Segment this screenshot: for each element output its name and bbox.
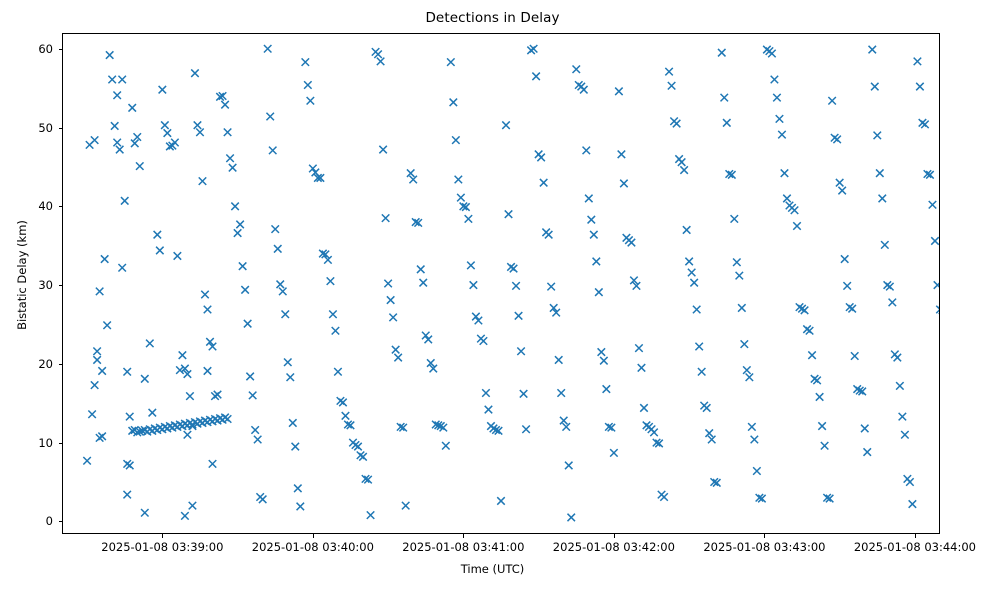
x-tick-mark	[614, 534, 615, 538]
x-tick-label: 2025-01-08 03:42:00	[553, 540, 675, 554]
x-tick-label: 2025-01-08 03:39:00	[101, 540, 223, 554]
x-tick-mark	[764, 534, 765, 538]
y-tick-mark	[59, 128, 63, 129]
x-tick-mark	[915, 534, 916, 538]
y-tick-label: 50	[13, 121, 53, 135]
y-tick-label: 10	[13, 436, 53, 450]
y-tick-label: 0	[13, 514, 53, 528]
x-tick-label: 2025-01-08 03:44:00	[854, 540, 976, 554]
y-axis-label: Bistatic Delay (km)	[15, 165, 29, 385]
x-tick-mark	[463, 534, 464, 538]
x-tick-mark	[313, 534, 314, 538]
scatter-series	[62, 33, 940, 534]
x-tick-label: 2025-01-08 03:40:00	[252, 540, 374, 554]
y-tick-mark	[59, 49, 63, 50]
y-tick-mark	[59, 285, 63, 286]
x-tick-mark	[162, 534, 163, 538]
x-tick-label: 2025-01-08 03:43:00	[703, 540, 825, 554]
y-tick-mark	[59, 521, 63, 522]
y-tick-mark	[59, 443, 63, 444]
chart-title: Detections in Delay	[0, 10, 985, 26]
matplotlib-figure: Detections in Delay 2025-01-08 03:39:002…	[0, 0, 985, 590]
y-tick-label: 60	[13, 42, 53, 56]
x-tick-label: 2025-01-08 03:41:00	[402, 540, 524, 554]
x-axis-label: Time (UTC)	[0, 562, 985, 576]
y-tick-mark	[59, 364, 63, 365]
plot-area	[62, 33, 940, 534]
y-tick-mark	[59, 206, 63, 207]
